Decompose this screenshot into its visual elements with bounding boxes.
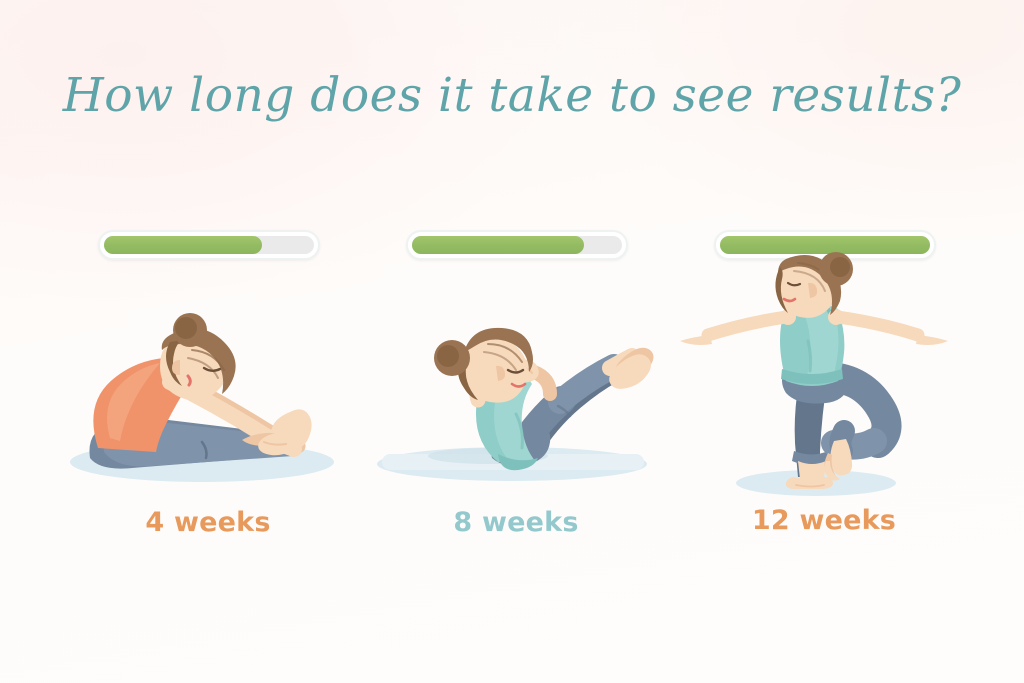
tree-pose-illustration [668,255,980,500]
progress-track [406,230,628,260]
caption-4-weeks: 4 weeks [52,507,364,538]
caption-8-weeks: 8 weeks [360,507,672,538]
crunch-sit-up-illustration [360,322,672,490]
progress-track [98,230,320,260]
milestone-column-8-weeks: 8 weeks [360,0,672,683]
infographic-canvas: How long does it take to see results? [0,0,1024,683]
milestone-column-12-weeks: 12 weeks [668,0,980,683]
progress-fill [412,236,584,254]
progress-bar-8-weeks[interactable] [406,230,628,260]
caption-12-weeks: 12 weeks [668,505,980,536]
milestone-columns: 4 weeks [0,0,1024,683]
seated-forward-fold-illustration [52,320,364,490]
progress-bar-4-weeks[interactable] [98,230,320,260]
progress-fill [104,236,262,254]
milestone-column-4-weeks: 4 weeks [52,0,364,683]
progress-fill [720,236,930,254]
